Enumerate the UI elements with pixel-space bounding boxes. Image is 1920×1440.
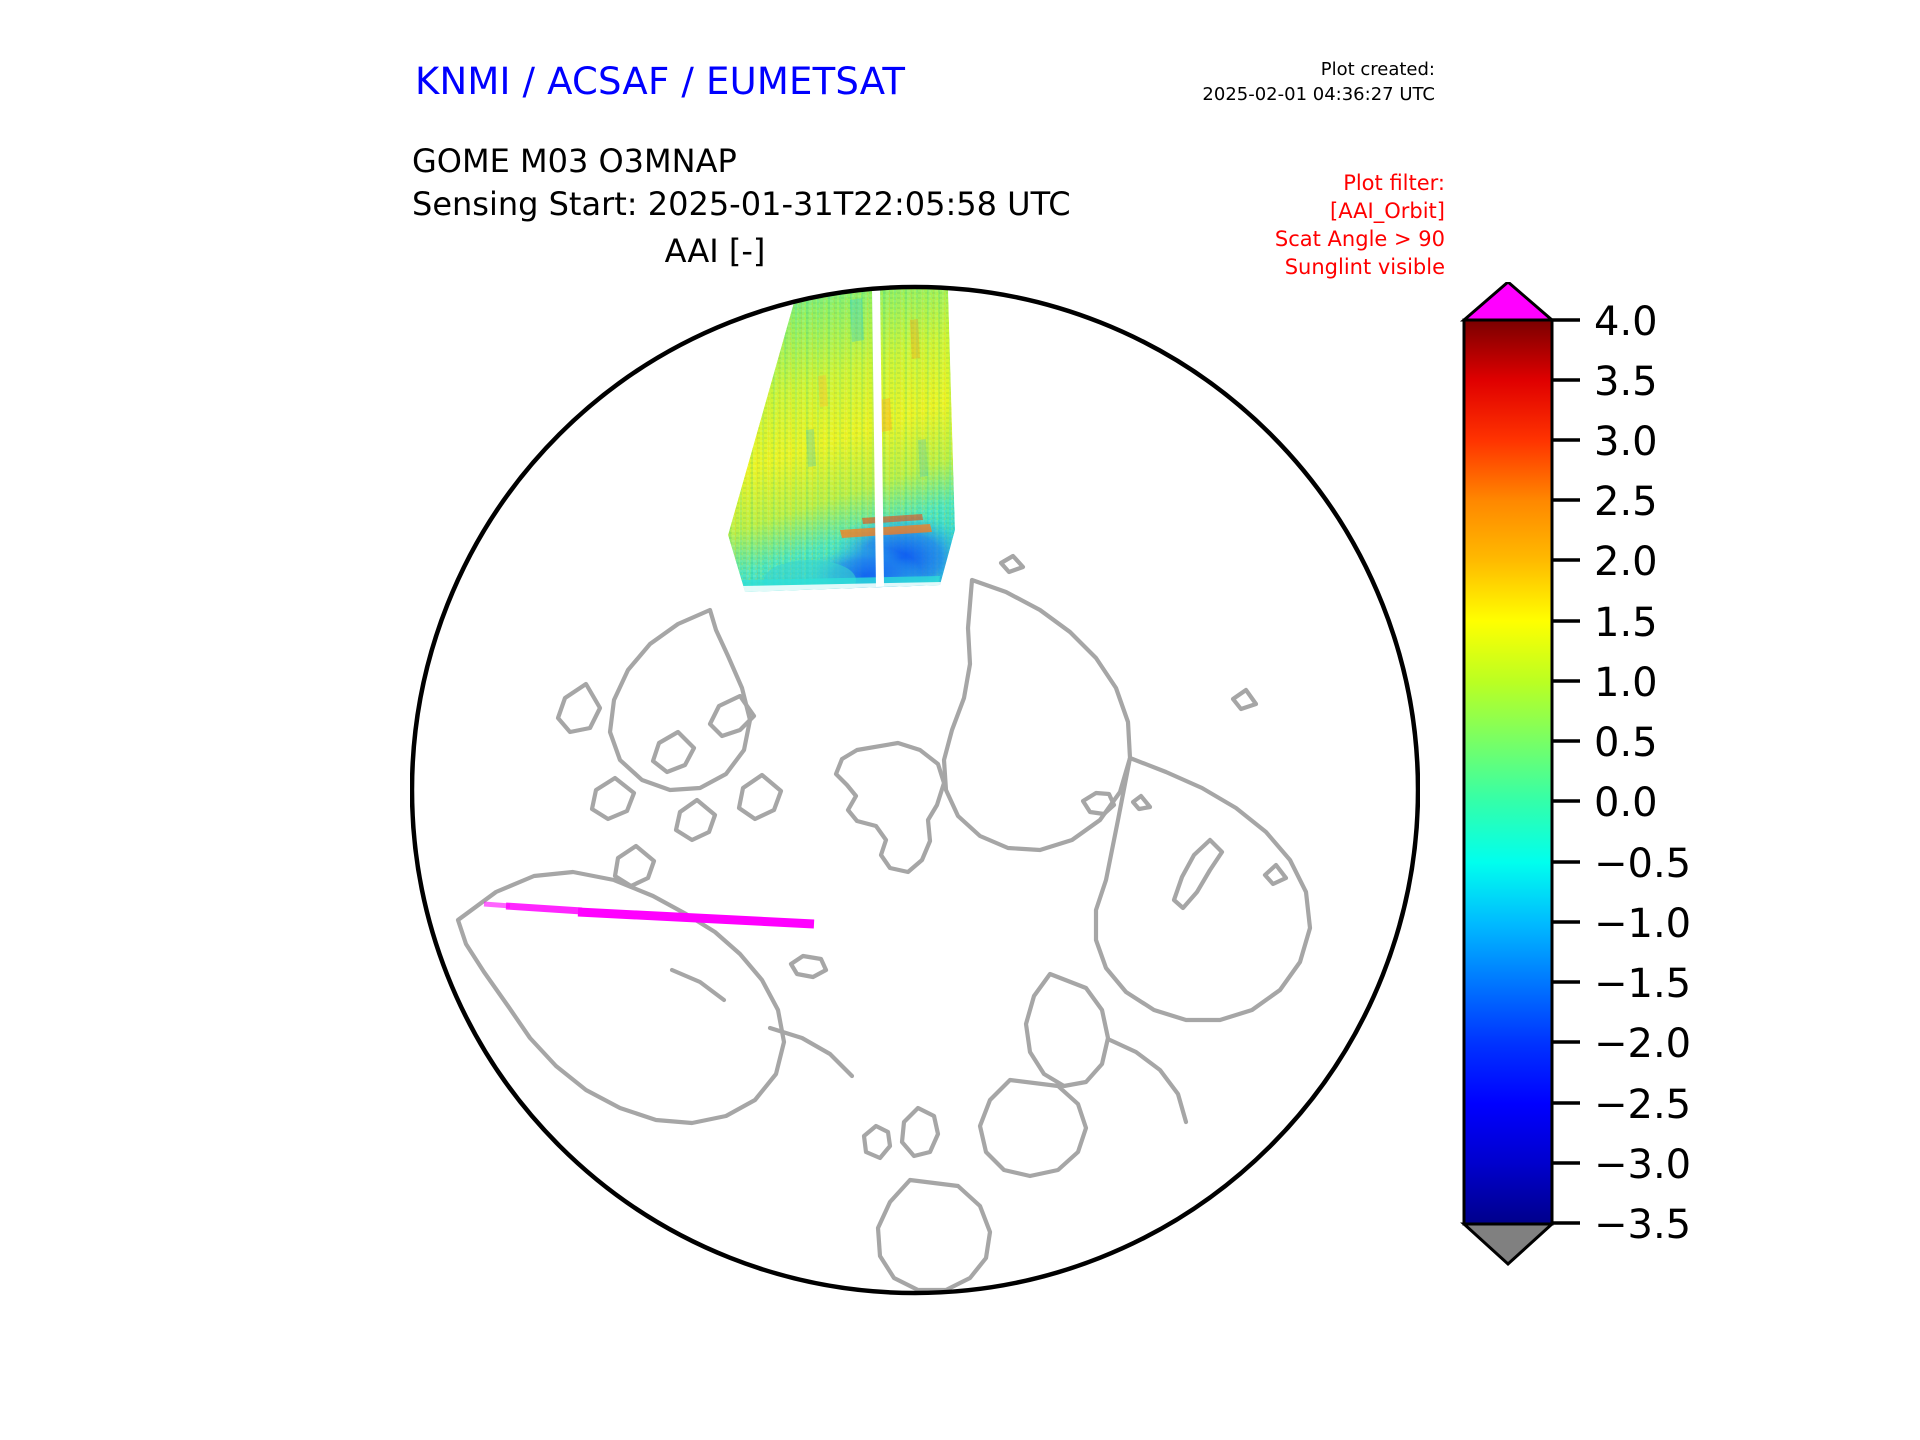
colorbar-tick-label: 4.0 (1594, 299, 1658, 345)
instrument-title: GOME M03 O3MNAP (412, 140, 1071, 183)
filter-line-3: Sunglint visible (1175, 254, 1445, 282)
colorbar-tick-label: 2.0 (1594, 539, 1658, 585)
colorbar-tick-labels: 4.0 3.5 3.0 2.5 2.0 1.5 1.0 0.5 0.0 −0.5… (1594, 299, 1691, 1248)
colorbar-tick-label: 1.5 (1594, 600, 1658, 646)
plot-created-block: Plot created: 2025-02-01 04:36:27 UTC (1090, 58, 1435, 108)
colorbar-tick-label: 1.0 (1594, 660, 1658, 706)
polar-map (410, 280, 1420, 1300)
filter-line-0: Plot filter: (1175, 170, 1445, 198)
sensing-start-title: Sensing Start: 2025-01-31T22:05:58 UTC (412, 183, 1071, 226)
colorbar-tick-label: −3.0 (1594, 1142, 1691, 1188)
colorbar-gradient (1464, 320, 1552, 1224)
colorbar-tick-label: −1.5 (1594, 961, 1691, 1007)
colorbar-tick-label: −2.0 (1594, 1021, 1691, 1067)
filter-line-2: Scat Angle > 90 (1175, 226, 1445, 254)
colorbar-tick-label: 0.5 (1594, 720, 1658, 766)
organisation-title: KNMI / ACSAF / EUMETSAT (415, 60, 905, 103)
colorbar-tick-label: −0.5 (1594, 841, 1691, 887)
colorbar: 4.0 3.5 3.0 2.5 2.0 1.5 1.0 0.5 0.0 −0.5… (1448, 282, 1778, 1312)
colorbar-tick-label: 2.5 (1594, 479, 1658, 525)
colorbar-tick-label: −2.5 (1594, 1082, 1691, 1128)
plot-title-block: GOME M03 O3MNAP Sensing Start: 2025-01-3… (412, 140, 1071, 225)
plot-created-label: Plot created: (1090, 58, 1435, 83)
plot-created-timestamp: 2025-02-01 04:36:27 UTC (1090, 83, 1435, 108)
colorbar-tick-label: −3.5 (1594, 1202, 1691, 1248)
filter-line-1: [AAI_Orbit] (1175, 198, 1445, 226)
coastlines (458, 556, 1310, 1290)
colorbar-tick-label: 0.0 (1594, 780, 1658, 826)
plot-filter-block: Plot filter: [AAI_Orbit] Scat Angle > 90… (1175, 170, 1445, 282)
colorbar-under-arrow (1464, 1224, 1552, 1264)
colorbar-tick-label: −1.0 (1594, 901, 1691, 947)
colorbar-tick-label: 3.0 (1594, 419, 1658, 465)
colorbar-over-arrow (1464, 282, 1552, 320)
satellite-swath (728, 288, 974, 606)
colorbar-ticks (1552, 320, 1580, 1223)
colorbar-tick-label: 3.5 (1594, 359, 1658, 405)
sunglint-track (484, 904, 814, 924)
